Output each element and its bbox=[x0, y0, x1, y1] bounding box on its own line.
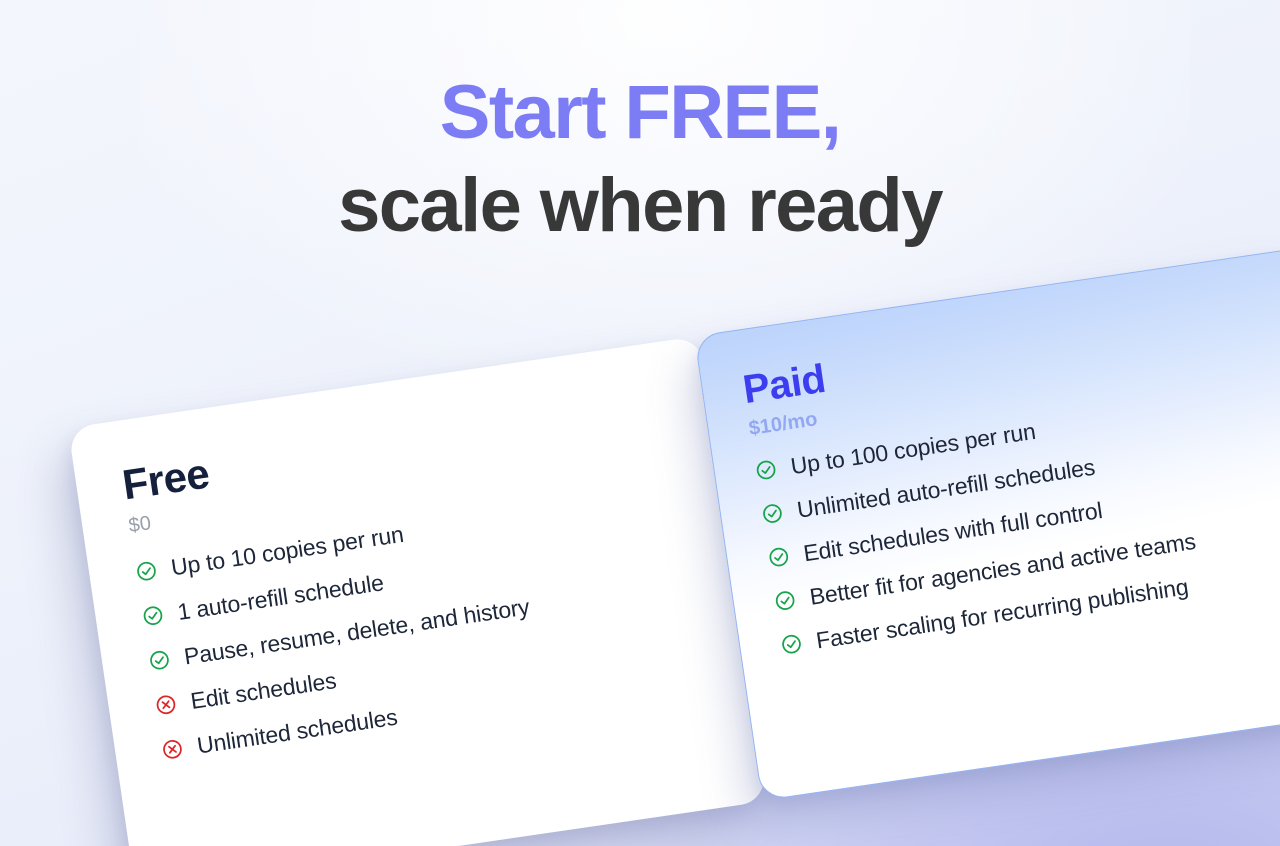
check-circle-icon bbox=[141, 603, 166, 628]
hero-heading: Start FREE, scale when ready bbox=[0, 66, 1280, 252]
x-circle-icon bbox=[154, 692, 179, 717]
pricing-hero-stage: Start FREE, scale when ready Free $0 Up … bbox=[0, 0, 1280, 846]
hero-heading-line-2: scale when ready bbox=[0, 159, 1280, 252]
check-circle-icon bbox=[760, 501, 785, 526]
pricing-card-free[interactable]: Free $0 Up to 10 copies per run1 auto-re… bbox=[68, 336, 767, 846]
pricing-card-paid[interactable]: Paid $10/mo Up to 100 copies per runUnli… bbox=[694, 246, 1280, 801]
check-circle-icon bbox=[134, 559, 159, 584]
hero-heading-line-1: Start FREE, bbox=[0, 66, 1280, 159]
check-circle-icon bbox=[754, 458, 779, 483]
check-circle-icon bbox=[773, 588, 798, 613]
check-circle-icon bbox=[147, 648, 172, 673]
check-circle-icon bbox=[766, 545, 791, 570]
feature-label: Edit schedules bbox=[189, 665, 339, 716]
x-circle-icon bbox=[160, 737, 185, 762]
check-circle-icon bbox=[779, 632, 804, 657]
